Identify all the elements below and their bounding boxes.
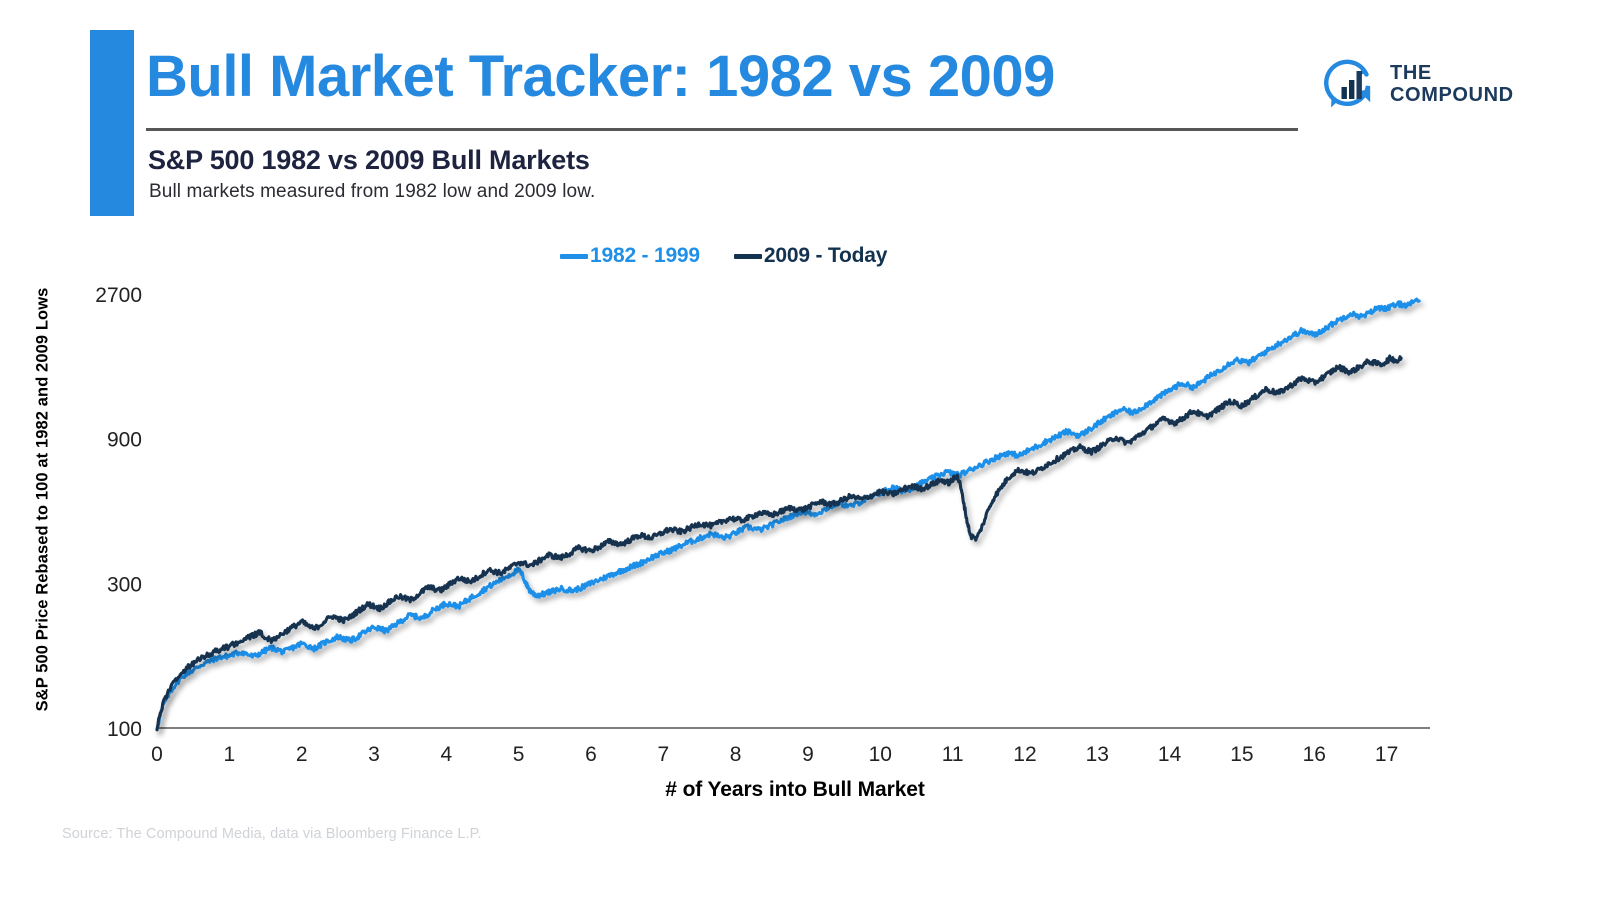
- y-tick-label: 300: [107, 573, 142, 596]
- page-title: Bull Market Tracker: 1982 vs 2009: [146, 47, 1306, 108]
- legend-item-1982-1999[interactable]: 1982 - 1999: [560, 244, 700, 268]
- x-tick-label: 3: [368, 743, 380, 766]
- x-axis-title: # of Years into Bull Market: [430, 778, 1160, 802]
- x-tick-label: 7: [657, 743, 669, 766]
- x-tick-label: 14: [1158, 743, 1182, 766]
- logo-line-1: THE: [1390, 62, 1514, 84]
- x-tick-label: 9: [802, 743, 814, 766]
- source-note: Source: The Compound Media, data via Blo…: [62, 826, 482, 842]
- chart-description: Bull markets measured from 1982 low and …: [149, 181, 1149, 203]
- chart-subtitle: S&P 500 1982 vs 2009 Bull Markets: [148, 145, 1148, 176]
- x-tick-label: 1: [223, 743, 235, 766]
- x-tick-label: 15: [1230, 743, 1253, 766]
- chart-legend: 1982 - 1999 2009 - Today: [560, 241, 887, 271]
- chart-series-group: [157, 299, 1419, 730]
- x-tick-label: 6: [585, 743, 597, 766]
- y-tick-label: 900: [107, 429, 142, 452]
- legend-swatch-2009-today: [734, 254, 762, 259]
- y-axis-title: S&P 500 Price Rebased to 100 at 1982 and…: [34, 265, 53, 735]
- legend-item-2009-today[interactable]: 2009 - Today: [734, 244, 887, 268]
- compound-circular-arrow-bar-chart-icon: [1322, 57, 1376, 111]
- x-tick-label: 12: [1013, 743, 1036, 766]
- x-tick-label: 8: [730, 743, 742, 766]
- x-tick-label: 10: [869, 743, 892, 766]
- x-axis-ticks: 01234567891011121314151617: [151, 743, 1398, 766]
- title-divider: [146, 128, 1298, 131]
- x-tick-label: 2: [296, 743, 308, 766]
- y-tick-label: 100: [107, 718, 142, 741]
- x-tick-label: 4: [440, 743, 452, 766]
- series-line-1982-1999: [157, 299, 1419, 729]
- x-tick-label: 17: [1375, 743, 1398, 766]
- y-tick-label: 2700: [95, 284, 142, 307]
- chart-plot-area: 1003009002700 01234567891011121314151617: [0, 0, 1600, 900]
- brand-logo: THE COMPOUND: [1322, 53, 1527, 115]
- header-accent-bar: [90, 30, 134, 216]
- legend-label-1982-1999: 1982 - 1999: [590, 244, 700, 268]
- y-axis-ticks: 1003009002700: [95, 284, 142, 741]
- series-line-2009-today: [157, 356, 1401, 730]
- x-tick-label: 13: [1086, 743, 1109, 766]
- x-tick-label: 16: [1303, 743, 1326, 766]
- x-tick-label: 5: [513, 743, 525, 766]
- x-tick-label: 0: [151, 743, 163, 766]
- logo-wordmark: THE COMPOUND: [1390, 62, 1514, 107]
- legend-swatch-1982-1999: [560, 254, 588, 259]
- x-tick-label: 11: [942, 743, 964, 766]
- logo-line-2: COMPOUND: [1390, 84, 1514, 106]
- legend-label-2009-today: 2009 - Today: [764, 244, 887, 268]
